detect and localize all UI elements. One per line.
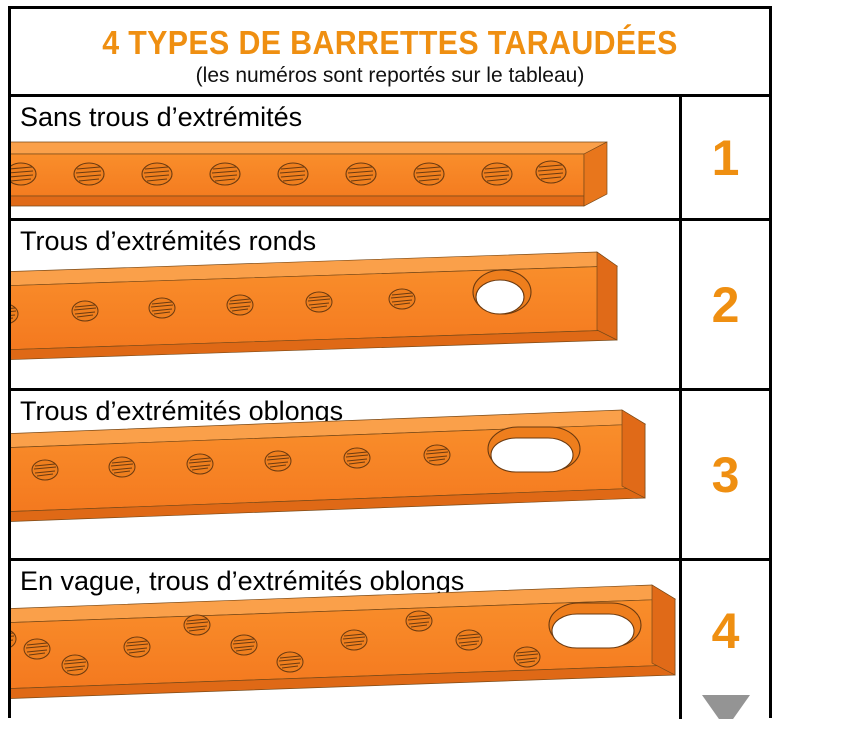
triangle-down-icon: [702, 695, 750, 719]
row-number: 1: [712, 133, 740, 183]
oblong-end-hole: [549, 603, 641, 648]
table-row: En vague, trous d’extrémités oblongs: [11, 561, 769, 719]
page-subtitle: (les numéros sont reportés sur le tablea…: [11, 61, 769, 88]
table-header: 4 TYPES DE BARRETTES TARAUDÉES (les numé…: [11, 9, 769, 97]
row-label: Trous d’extrémités oblongs: [20, 395, 343, 428]
types-table: 4 TYPES DE BARRETTES TARAUDÉES (les numé…: [8, 6, 772, 718]
row-number: 3: [712, 450, 740, 500]
table-body: Sans trous d’extrémités: [11, 97, 769, 715]
row-number: 2: [712, 280, 740, 330]
oblong-end-hole: [488, 427, 580, 472]
row-content-cell: Trous d’extrémités oblongs: [11, 391, 679, 558]
row-number-cell: 1: [679, 97, 769, 218]
row-number-cell: 3: [679, 391, 769, 558]
table-row: Sans trous d’extrémités: [11, 97, 769, 221]
row-content-cell: Sans trous d’extrémités: [11, 97, 679, 218]
row-number-cell: 2: [679, 221, 769, 388]
table-row: Trous d’extrémités ronds: [11, 221, 769, 391]
row-label: Sans trous d’extrémités: [20, 101, 302, 134]
table-row: Trous d’extrémités oblongs: [11, 391, 769, 561]
round-end-hole: [473, 270, 531, 314]
row-number: 4: [712, 606, 740, 656]
row-number-cell: 4: [679, 561, 769, 719]
figure-root: 4 TYPES DE BARRETTES TARAUDÉES (les numé…: [0, 0, 849, 734]
page-title: 4 TYPES DE BARRETTES TARAUDÉES: [41, 9, 738, 61]
row-label: En vague, trous d’extrémités oblongs: [20, 565, 464, 598]
row-content-cell: En vague, trous d’extrémités oblongs: [11, 561, 679, 719]
row-label: Trous d’extrémités ronds: [20, 225, 316, 258]
row-content-cell: Trous d’extrémités ronds: [11, 221, 679, 388]
